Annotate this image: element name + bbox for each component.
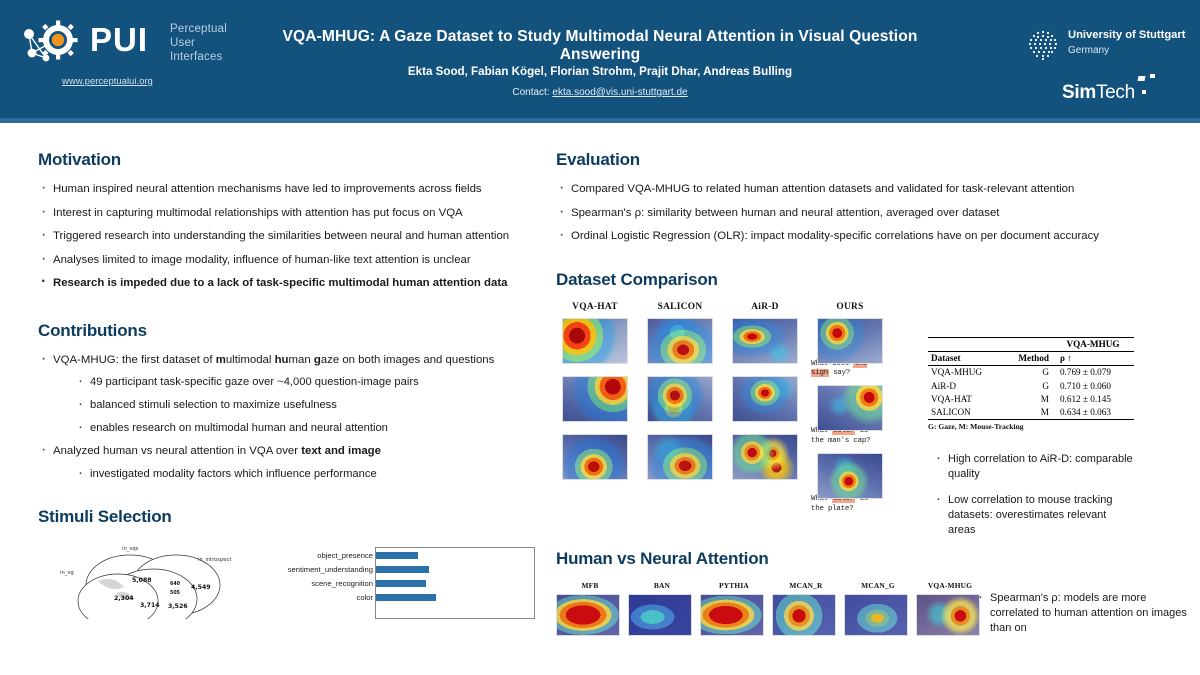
contributions-list: VQA-MHUG: the first dataset of multimoda… bbox=[38, 353, 538, 481]
q1-post: say? bbox=[829, 369, 850, 377]
pui-wordmark: PUI bbox=[90, 20, 148, 60]
venn-label-in-introspect: in_introspect bbox=[198, 557, 231, 563]
dcomp-bullet-1: High correlation to AiR-D: comparable qu… bbox=[934, 452, 1134, 482]
table-row: VQA-MHUG G 0.769 ± 0.079 bbox=[928, 365, 1134, 379]
bar-fill-3 bbox=[376, 580, 426, 587]
row4-rho: 0.634 ± 0.063 bbox=[1052, 405, 1134, 419]
heatmap-aird-row3 bbox=[732, 434, 798, 480]
right-column: Evaluation Compared VQA-MHUG to related … bbox=[556, 150, 1176, 651]
results-table: VQA-MHUG Dataset Method ρ ↑ VQA-MHUG G 0… bbox=[928, 337, 1134, 431]
contributions-sublist-1: 49 participant task-specific gaze over ~… bbox=[75, 375, 538, 435]
contrib2-sub-1: investigated modality factors which infl… bbox=[75, 467, 538, 481]
contact-email-link[interactable]: ekta.sood@vis.uni-stuttgart.de bbox=[552, 87, 687, 98]
university-country: Germany bbox=[1068, 44, 1109, 57]
venn-value-3: 4,549 bbox=[191, 584, 211, 591]
contrib1-sub-1: 49 participant task-specific gaze over ~… bbox=[75, 375, 538, 389]
bar-row-4: color bbox=[283, 593, 535, 602]
row3-dataset: VQA-HAT bbox=[928, 392, 1003, 405]
evaluation-bullet-3: Ordinal Logistic Regression (OLR): impac… bbox=[556, 229, 1176, 244]
dataset-comparison-bullets: High correlation to AiR-D: comparable qu… bbox=[934, 452, 1134, 549]
row2-rho: 0.710 ± 0.060 bbox=[1052, 379, 1134, 392]
motivation-list: Human inspired neural attention mechanis… bbox=[38, 182, 538, 291]
heatmap-salicon-row3 bbox=[647, 434, 713, 480]
heatmap-hat-row3 bbox=[562, 434, 628, 480]
venn-value-5: 3,714 bbox=[140, 602, 160, 609]
pui-logo: PUI Perceptual User Interfaces bbox=[22, 18, 242, 66]
bar-label-4: color bbox=[357, 593, 373, 602]
heatmap-hat-row2 bbox=[562, 376, 628, 422]
table-row: AiR-D G 0.710 ± 0.060 bbox=[928, 379, 1134, 392]
row2-dataset: AiR-D bbox=[928, 379, 1003, 392]
pui-subtitle: Perceptual User Interfaces bbox=[170, 22, 242, 64]
contributions-bullet-1: VQA-MHUG: the first dataset of multimoda… bbox=[38, 353, 538, 436]
university-logo-block: University of Stuttgart Germany bbox=[1026, 28, 1196, 64]
motivation-bullet-1: Human inspired neural attention mechanis… bbox=[38, 182, 538, 197]
left-column: Motivation Human inspired neural attenti… bbox=[38, 150, 538, 619]
motivation-bullet-5: Research is impeded due to a lack of tas… bbox=[38, 276, 538, 291]
venn-diagram: in_vqs in_introspect in_vg 5,088 640 4,5… bbox=[58, 541, 268, 619]
simtech-tech: Tech bbox=[1096, 82, 1135, 103]
stimuli-figures: in_vqs in_introspect in_vg 5,088 640 4,5… bbox=[38, 539, 538, 619]
bar-label-1: object_presence bbox=[317, 551, 373, 560]
contrib1-m: m bbox=[216, 354, 226, 366]
model-header-mcan-g: MCAN_G bbox=[844, 581, 912, 590]
model-header-pythia: PYTHIA bbox=[700, 581, 768, 590]
row4-dataset: SALICON bbox=[928, 405, 1003, 419]
heatmap-pythia bbox=[700, 594, 764, 636]
evaluation-bullet-1: Compared VQA-MHUG to related human atten… bbox=[556, 182, 1176, 197]
simtech-square-2 bbox=[1150, 74, 1155, 78]
table-row: SALICON M 0.634 ± 0.063 bbox=[928, 405, 1134, 419]
poster-header: PUI Perceptual User Interfaces www.perce… bbox=[0, 0, 1200, 118]
heatmap-mcan-r bbox=[772, 594, 836, 636]
row3-rho: 0.612 ± 0.145 bbox=[1052, 392, 1134, 405]
venn-label-in-vg: in_vg bbox=[60, 570, 74, 576]
row4-method: M bbox=[1003, 405, 1051, 419]
row1-method: G bbox=[1003, 365, 1051, 379]
contact-line: Contact: ekta.sood@vis.uni-stuttgart.de bbox=[250, 87, 950, 98]
contrib1-sub-2: balanced stimuli selection to maximize u… bbox=[75, 398, 538, 412]
simtech-square-1 bbox=[1137, 76, 1145, 81]
contrib2-pre: Analyzed human vs neural attention in VQ… bbox=[53, 445, 301, 457]
dcomp-header-air-d: AiR-D bbox=[726, 302, 804, 312]
motivation-bullet-2: Interest in capturing multimodal relatio… bbox=[38, 206, 538, 221]
evaluation-list: Compared VQA-MHUG to related human atten… bbox=[556, 182, 1176, 244]
bar-row-1: object_presence bbox=[283, 551, 535, 560]
row1-dataset: VQA-MHUG bbox=[928, 365, 1003, 379]
bar-label-2: sentiment_understanding bbox=[288, 565, 373, 574]
model-column-pythia: PYTHIA bbox=[700, 581, 768, 636]
row1-rho: 0.769 ± 0.079 bbox=[1052, 365, 1134, 379]
bar-row-2: sentiment_understanding bbox=[283, 565, 535, 574]
model-header-ban: BAN bbox=[628, 581, 696, 590]
model-column-ban: BAN bbox=[628, 581, 696, 636]
heatmap-vqa-mhug bbox=[916, 594, 980, 636]
contrib1-part2: ultimodal bbox=[226, 354, 275, 366]
contributions-sublist-2: investigated modality factors which infl… bbox=[75, 467, 538, 481]
poster-canvas: PUI Perceptual User Interfaces www.perce… bbox=[0, 0, 1200, 675]
heatmap-aird-row2 bbox=[732, 376, 798, 422]
contrib1-part6: aze on both images and questions bbox=[321, 354, 495, 366]
human-vs-neural-figure: MFB BAN PYTHIA MCAN_R MCAN_G bbox=[556, 581, 1176, 651]
row3-method: M bbox=[1003, 392, 1051, 405]
table-header-rho: ρ ↑ bbox=[1052, 351, 1134, 365]
evaluation-bullet-2: Spearman's ρ: similarity between human a… bbox=[556, 206, 1176, 221]
contributions-bullet-2: Analyzed human vs neural attention in VQ… bbox=[38, 444, 538, 481]
dcomp-bullet-2: Low correlation to mouse tracking datase… bbox=[934, 493, 1134, 538]
human-vs-neural-heading: Human vs Neural Attention bbox=[556, 549, 1176, 569]
table-header-dataset: Dataset bbox=[928, 351, 1003, 365]
venn-label-in-vqs: in_vqs bbox=[122, 546, 139, 552]
dcomp-column-air-d: AiR-D bbox=[726, 302, 804, 492]
contrib2-bold: text and image bbox=[301, 445, 381, 457]
bar-fill-2 bbox=[376, 566, 429, 573]
simtech-square-3 bbox=[1142, 90, 1146, 94]
contrib1-hu: hu bbox=[275, 354, 289, 366]
university-name: University of Stuttgart bbox=[1068, 29, 1185, 42]
table-header-method: Method bbox=[1003, 351, 1051, 365]
venn-value-2: 640 bbox=[170, 581, 181, 587]
model-header-mcan-r: MCAN_R bbox=[772, 581, 840, 590]
motivation-bullet-3: Triggered research into understanding th… bbox=[38, 229, 538, 244]
heatmap-salicon-row2 bbox=[647, 376, 713, 422]
author-list: Ekta Sood, Fabian Kögel, Florian Strohm,… bbox=[250, 65, 950, 78]
table-header-row: Dataset Method ρ ↑ bbox=[928, 351, 1134, 365]
model-header-mfb: MFB bbox=[556, 581, 624, 590]
contrib1-part4: man bbox=[289, 354, 314, 366]
pui-gear-network-icon bbox=[22, 20, 88, 64]
perceptualui-link[interactable]: www.perceptualui.org bbox=[62, 76, 153, 87]
bar-fill-4 bbox=[376, 594, 436, 601]
model-column-mcan-g: MCAN_G bbox=[844, 581, 912, 636]
human-vs-neural-bullets: Spearman's ρ: models are more correlated… bbox=[976, 591, 1191, 636]
contributions-heading: Contributions bbox=[38, 321, 538, 341]
model-header-vqa-mhug: VQA-MHUG bbox=[916, 581, 984, 590]
table-footnote: G: Gaze, M: Mouse-Tracking bbox=[928, 422, 1134, 431]
stuttgart-dotted-circle-icon bbox=[1026, 28, 1060, 62]
table-row: VQA-HAT M 0.612 ± 0.145 bbox=[928, 392, 1134, 405]
dcomp-header-vqa-hat: VQA-HAT bbox=[556, 302, 634, 312]
heatmap-mcan-g bbox=[844, 594, 908, 636]
heatmap-hat-row1 bbox=[562, 318, 628, 364]
bar-row-3: scene_recognition bbox=[283, 579, 535, 588]
model-column-mfb: MFB bbox=[556, 581, 624, 636]
simtech-logo: SimTech bbox=[1062, 82, 1135, 104]
hvn-bullet-1: Spearman's ρ: models are more correlated… bbox=[976, 591, 1191, 636]
table-group-header: VQA-MHUG bbox=[1052, 337, 1134, 351]
contact-label: Contact: bbox=[512, 87, 549, 98]
dataset-comparison-figure: VQA-HAT SALICON AiR-D OURS bbox=[556, 302, 1176, 527]
table-spacer-1 bbox=[928, 337, 1003, 351]
contrib1-sub-3: enables research on multimodal human and… bbox=[75, 421, 538, 435]
dcomp-column-ours: OURS What does the sign say? What color … bbox=[811, 302, 889, 521]
heatmap-ban bbox=[628, 594, 692, 636]
evaluation-heading: Evaluation bbox=[556, 150, 1176, 170]
venn-value-1: 5,088 bbox=[132, 577, 152, 584]
venn-value-7: 505 bbox=[170, 590, 180, 596]
heatmap-ours-row2 bbox=[817, 385, 883, 431]
model-column-vqa-mhug: VQA-MHUG bbox=[916, 581, 984, 636]
header-divider bbox=[0, 118, 1200, 123]
simtech-sim: Sim bbox=[1062, 82, 1096, 103]
dcomp-column-salicon: SALICON bbox=[641, 302, 719, 492]
stimuli-heading: Stimuli Selection bbox=[38, 507, 538, 527]
contrib1-part0: VQA-MHUG: the first dataset of bbox=[53, 354, 216, 366]
heatmap-ours-row3 bbox=[817, 453, 883, 499]
heatmap-aird-row1 bbox=[732, 318, 798, 364]
motivation-bullet-4: Analyses limited to image modality, infl… bbox=[38, 253, 538, 268]
dcomp-header-salicon: SALICON bbox=[641, 302, 719, 312]
contrib1-g: g bbox=[314, 354, 321, 366]
pui-subtitle-line1: Perceptual bbox=[170, 22, 242, 36]
pui-subtitle-line2: User Interfaces bbox=[170, 36, 242, 64]
model-column-mcan-r: MCAN_R bbox=[772, 581, 840, 636]
dataset-comparison-heading: Dataset Comparison bbox=[556, 270, 1176, 290]
venn-value-4: 2,304 bbox=[114, 595, 134, 602]
table-spacer-2 bbox=[1003, 337, 1051, 351]
heatmap-ours-row1 bbox=[817, 318, 883, 364]
stimuli-bar-chart: object_presence sentiment_understanding … bbox=[283, 547, 535, 619]
dcomp-column-vqa-hat: VQA-HAT bbox=[556, 302, 634, 492]
bar-fill-1 bbox=[376, 552, 418, 559]
motivation-heading: Motivation bbox=[38, 150, 538, 170]
bar-label-3: scene_recognition bbox=[311, 579, 373, 588]
table-group-header-row: VQA-MHUG bbox=[928, 337, 1134, 351]
heatmap-mfb bbox=[556, 594, 620, 636]
venn-value-6: 3,526 bbox=[168, 603, 188, 610]
row2-method: G bbox=[1003, 379, 1051, 392]
heatmap-salicon-row1 bbox=[647, 318, 713, 364]
poster-title: VQA-MHUG: A Gaze Dataset to Study Multim… bbox=[250, 28, 950, 64]
dcomp-header-ours: OURS bbox=[811, 302, 889, 312]
